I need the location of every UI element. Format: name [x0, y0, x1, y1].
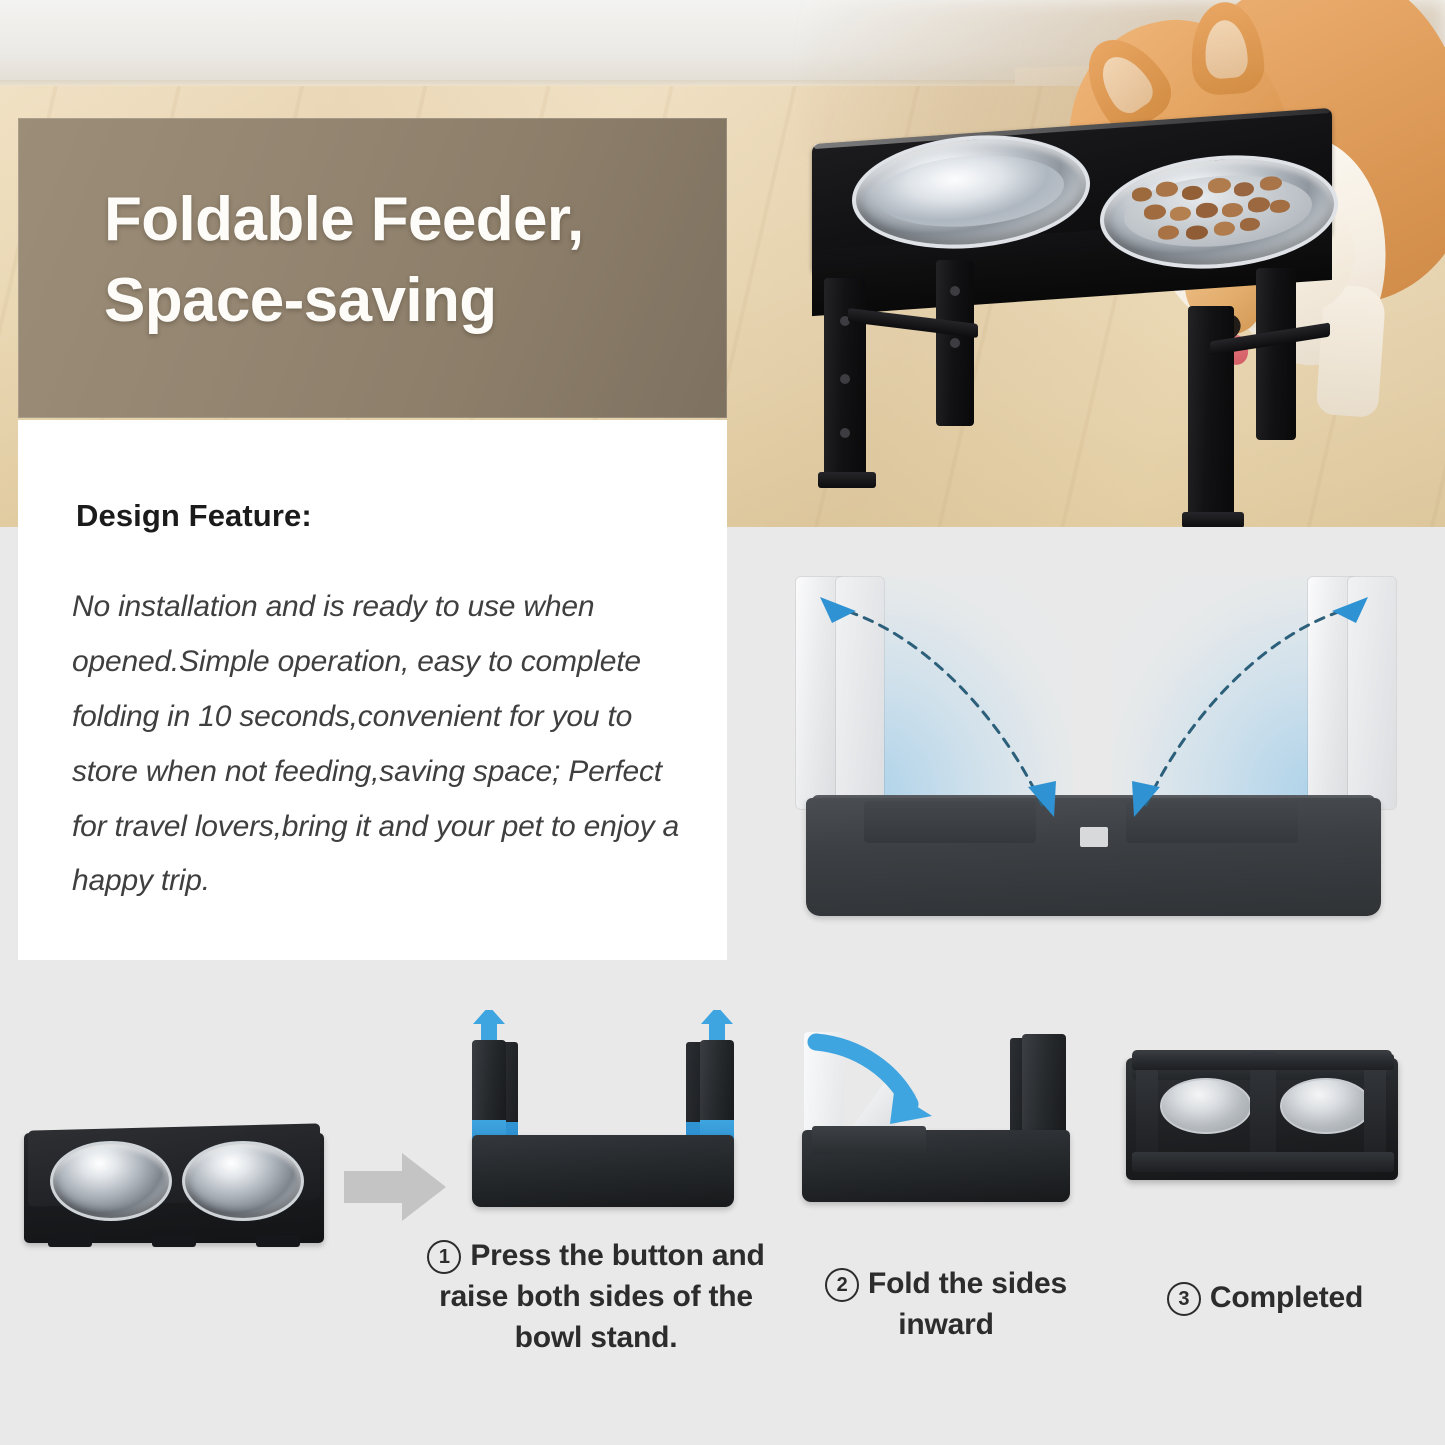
step-1-caption: 1Press the button and raise both sides o… [418, 1236, 774, 1358]
step2-curved-arrow [790, 1020, 1080, 1220]
step-3-caption: 3Completed [1110, 1278, 1420, 1319]
step-3-number: 3 [1167, 1282, 1201, 1316]
transition-arrow-icon [340, 1145, 450, 1229]
step3-folded-leg-right [1364, 1064, 1386, 1164]
step3-bowl-right [1280, 1078, 1372, 1134]
stand-leg-front-left [824, 278, 866, 478]
infographic-page: Foldable Feeder,Space-saving Design Feat… [0, 0, 1445, 1445]
step-1-text: Press the button and raise both sides of… [439, 1239, 765, 1354]
step1-up-arrows [452, 1010, 752, 1220]
flat-bowl-right [182, 1141, 304, 1221]
step-2-graphic [790, 1020, 1080, 1220]
design-feature-heading: Design Feature: [76, 498, 312, 534]
title-banner: Foldable Feeder,Space-saving [18, 118, 727, 418]
stand-leg-back-right [1256, 268, 1296, 440]
elevated-feeder-stand [790, 120, 1350, 510]
step-3-graphic [1112, 1030, 1412, 1220]
start-flat-feeder-image [14, 1125, 334, 1260]
page-title: Foldable Feeder,Space-saving [104, 180, 704, 341]
title-line-2: Space-saving [104, 266, 497, 335]
bowl-water-surface [876, 149, 1064, 232]
step3-folded-leg-left [1136, 1064, 1158, 1164]
folding-steps-strip: 1Press the button and raise both sides o… [0, 985, 1445, 1445]
step-2-number: 2 [825, 1268, 859, 1302]
step-2-caption: 2Fold the sides inward [800, 1264, 1092, 1346]
folding-mechanism-diagram [760, 555, 1425, 960]
design-feature-card: Design Feature: No installation and is r… [18, 420, 727, 960]
step3-bowl-left [1160, 1078, 1252, 1134]
step-1-number: 1 [427, 1240, 461, 1274]
design-feature-body: No installation and is ready to use when… [72, 580, 698, 909]
fold-arc-arrows [760, 555, 1425, 960]
step3-folded-bar-bottom [1132, 1152, 1394, 1172]
step3-folded-bar-top [1132, 1054, 1394, 1070]
step-3-text: Completed [1210, 1281, 1363, 1314]
stand-leg-back-left [936, 260, 974, 426]
stand-foot-right [1182, 512, 1244, 527]
stand-foot-left [818, 472, 876, 488]
flat-bowl-left [50, 1141, 172, 1221]
title-line-1: Foldable Feeder, [104, 185, 584, 254]
step-2-text: Fold the sides inward [868, 1267, 1067, 1341]
step-1-graphic [452, 1010, 752, 1220]
